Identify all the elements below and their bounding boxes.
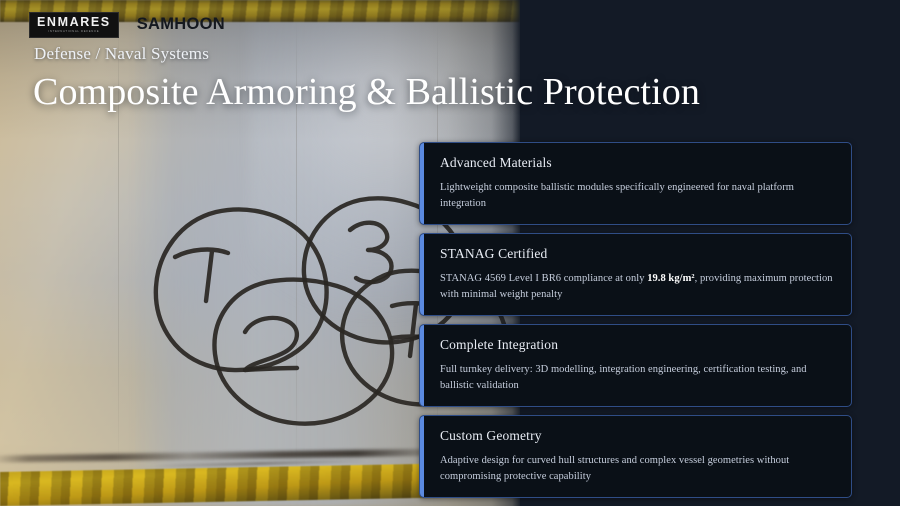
feature-card-body: STANAG 4569 Level I BR6 compliance at on… [440,271,835,302]
feature-card-body: Adaptive design for curved hull structur… [440,453,835,484]
feature-card[interactable]: Custom Geometry Adaptive design for curv… [419,415,852,498]
feature-card-body: Lightweight composite ballistic modules … [440,180,835,211]
feature-card[interactable]: Complete Integration Full turnkey delive… [419,324,852,407]
slide-eyebrow: Defense / Naval Systems [34,44,209,64]
feature-card-body-pre: Full turnkey delivery: 3D modelling, int… [440,364,807,391]
enmares-logo: ENMARES INTERNATIONAL DEFENCE [29,12,119,38]
feature-card-body: Full turnkey delivery: 3D modelling, int… [440,362,835,393]
slide-canvas: ENMARES INTERNATIONAL DEFENCE SAMHOON De… [0,0,900,506]
feature-card-title: Complete Integration [440,337,835,353]
partner-name: SAMHOON [137,15,225,34]
feature-card-title: STANAG Certified [440,246,835,262]
enmares-logo-wordmark: ENMARES [37,16,111,29]
feature-card-body-highlight: 19.8 kg/m² [647,273,694,284]
feature-card-title: Advanced Materials [440,155,835,171]
feature-card-list: Advanced Materials Lightweight composite… [419,142,852,498]
feature-card[interactable]: Advanced Materials Lightweight composite… [419,142,852,225]
brand-row: ENMARES INTERNATIONAL DEFENCE SAMHOON [29,12,225,38]
feature-card[interactable]: STANAG Certified STANAG 4569 Level I BR6… [419,233,852,316]
feature-card-title: Custom Geometry [440,428,835,444]
page-title: Composite Armoring & Ballistic Protectio… [33,70,700,114]
enmares-logo-tagline: INTERNATIONAL DEFENCE [48,30,99,33]
feature-card-body-pre: Adaptive design for curved hull structur… [440,455,789,482]
feature-card-body-pre: STANAG 4569 Level I BR6 compliance at on… [440,273,647,284]
slide-header: ENMARES INTERNATIONAL DEFENCE SAMHOON De… [0,0,900,118]
feature-card-body-pre: Lightweight composite ballistic modules … [440,182,794,209]
